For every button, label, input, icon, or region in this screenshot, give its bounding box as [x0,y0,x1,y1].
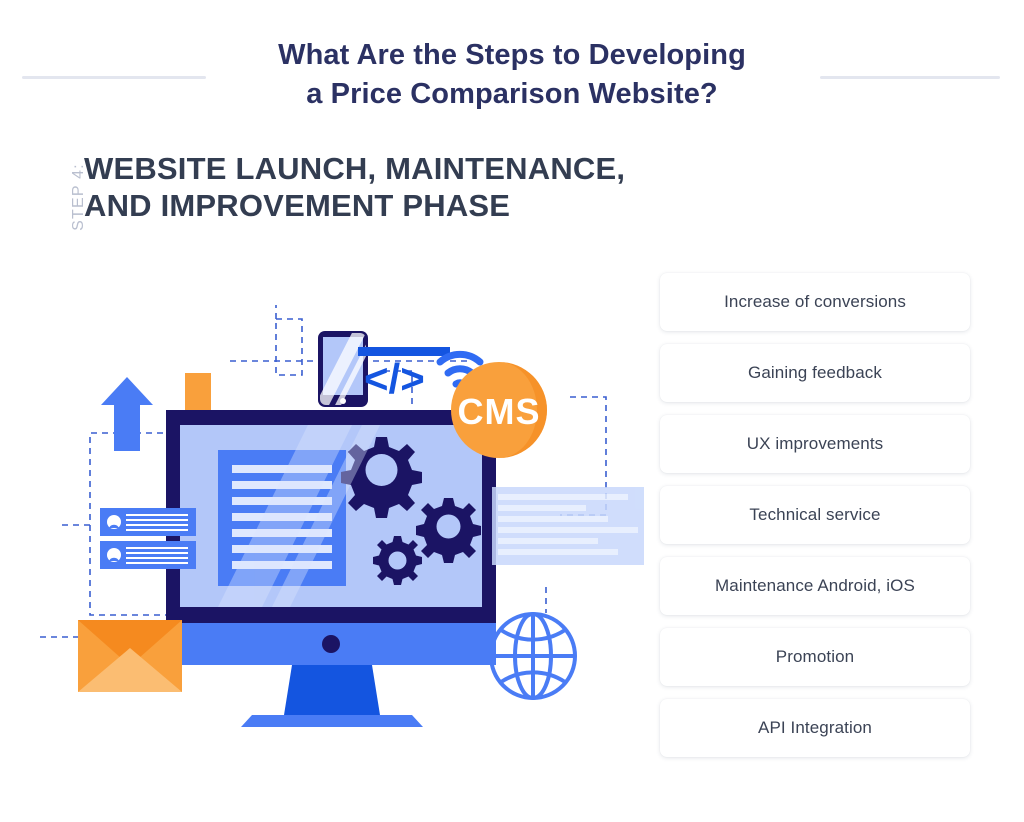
monitor-power-dot [322,635,340,653]
step-title: WEBSITE LAUNCH, MAINTENANCE, AND IMPROVE… [84,150,625,224]
envelope-icon [78,620,182,692]
list-item-label: UX improvements [747,434,884,454]
list-item-label: Increase of conversions [724,292,906,312]
list-item-label: Maintenance Android, iOS [715,576,915,596]
code-symbol: </> [364,355,425,402]
page-title-line2: a Price Comparison Website? [0,75,1024,114]
cms-badge-icon: CMS [451,362,547,458]
header-rule-left [22,76,206,79]
list-item[interactable]: Increase of conversions [660,273,970,331]
upload-arrow-icon [101,377,153,451]
page-header: What Are the Steps to Developing a Price… [0,36,1024,114]
cms-badge-label: CMS [458,391,541,432]
list-item-label: Promotion [776,647,854,667]
list-item[interactable]: API Integration [660,699,970,757]
list-item[interactable]: Maintenance Android, iOS [660,557,970,615]
list-item[interactable]: Technical service [660,486,970,544]
globe-icon [491,614,575,698]
list-item-label: Gaining feedback [748,363,882,383]
list-item-label: API Integration [758,718,872,738]
list-item[interactable]: UX improvements [660,415,970,473]
header-rule-right [820,76,1000,79]
smartphone-code-icon: </> [312,325,450,411]
website-launch-illustration: </> CMS [40,285,660,735]
list-item-label: Technical service [749,505,880,525]
infographic-page: What Are the Steps to Developing a Price… [0,0,1024,822]
list-item[interactable]: Gaining feedback [660,344,970,402]
page-title-line1: What Are the Steps to Developing [0,36,1024,75]
list-item[interactable]: Promotion [660,628,970,686]
benefits-card-list: Increase of conversions Gaining feedback… [660,273,970,770]
code-block-icon [492,487,644,565]
page-title: What Are the Steps to Developing a Price… [0,36,1024,114]
desktop-monitor-icon [166,410,496,727]
step-heading-block: STEP 4: WEBSITE LAUNCH, MAINTENANCE, AND… [52,150,882,250]
